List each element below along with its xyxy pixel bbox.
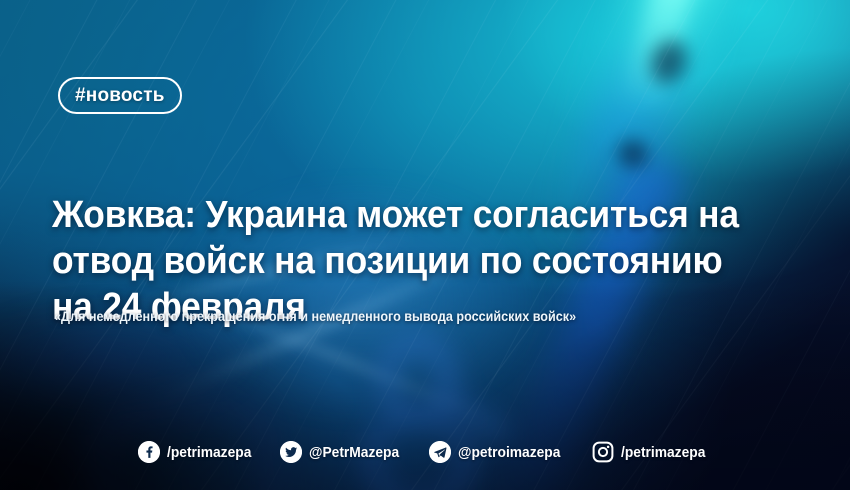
instagram-icon bbox=[592, 441, 614, 463]
social-link-twitter[interactable]: @PetrMazepa bbox=[280, 441, 407, 463]
social-link-telegram[interactable]: @petroimazepa bbox=[429, 441, 569, 463]
twitter-icon bbox=[280, 441, 302, 463]
social-links-bar: /petrimazepa @PetrMazepa bbox=[0, 436, 850, 468]
card-content: #новость Жовква: Украина может согласить… bbox=[0, 0, 850, 490]
category-tag[interactable]: #новость bbox=[58, 77, 182, 114]
social-handle-facebook: /petrimazepa bbox=[167, 444, 251, 461]
category-tag-label: #новость bbox=[75, 85, 165, 107]
social-handle-instagram: /petrimazepa bbox=[621, 444, 705, 461]
subtitle: «Для немедленного прекращения огня и нем… bbox=[54, 307, 738, 326]
social-handle-telegram: @petroimazepa bbox=[458, 444, 560, 461]
social-handle-twitter: @PetrMazepa bbox=[309, 444, 399, 461]
telegram-icon bbox=[429, 441, 451, 463]
social-link-instagram[interactable]: /petrimazepa bbox=[592, 441, 713, 463]
facebook-icon bbox=[138, 441, 160, 463]
social-link-facebook[interactable]: /petrimazepa bbox=[138, 441, 259, 463]
news-card: #новость Жовква: Украина может согласить… bbox=[0, 0, 850, 490]
